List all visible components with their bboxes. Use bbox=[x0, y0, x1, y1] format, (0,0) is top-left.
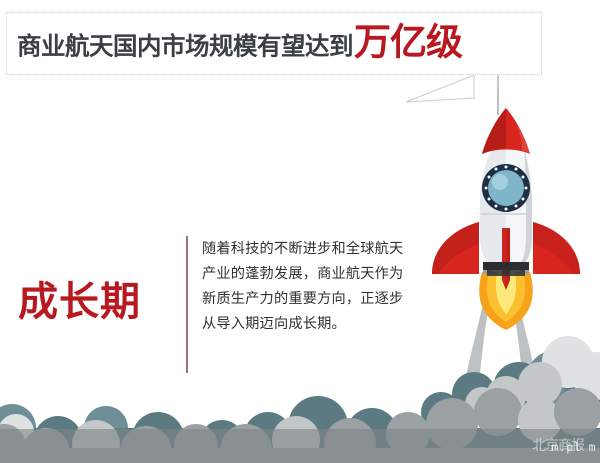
nose-cone bbox=[482, 108, 530, 154]
engine-nozzle bbox=[483, 262, 529, 276]
body-paragraph: 随着科技的不断进步和全球航天产业的蓬勃发展，商业航天作为新质生产力的重要方向，正… bbox=[202, 237, 412, 337]
right-fin bbox=[533, 222, 580, 274]
page-title: 商业航天国内市场规模有望达到 bbox=[17, 27, 353, 62]
watermark: m.pl m 北京商报 bbox=[474, 437, 598, 457]
title-accent-text: 万亿级 bbox=[354, 25, 462, 58]
title-row: 商业航天国内市场规模有望达到 万亿级 bbox=[17, 25, 462, 62]
watermark-cjk-text: 北京商报 bbox=[532, 435, 584, 455]
left-fin bbox=[432, 222, 479, 274]
speech-bubble-tail-svg bbox=[404, 74, 476, 104]
speech-bubble-tail bbox=[404, 74, 476, 104]
center-stripe bbox=[502, 228, 510, 290]
rocket-illustration bbox=[426, 104, 586, 334]
infographic-canvas: 商业航天国内市场规模有望达到 万亿级 成长期 随着科技的不断进步和全球航天产业的… bbox=[0, 0, 600, 463]
stage-label: 成长期 bbox=[18, 282, 141, 322]
vertical-divider bbox=[186, 236, 188, 373]
porthole-window bbox=[482, 164, 530, 212]
rocket-svg bbox=[426, 104, 586, 334]
title-callout-box: 商业航天国内市场规模有望达到 万亿级 bbox=[6, 12, 542, 75]
